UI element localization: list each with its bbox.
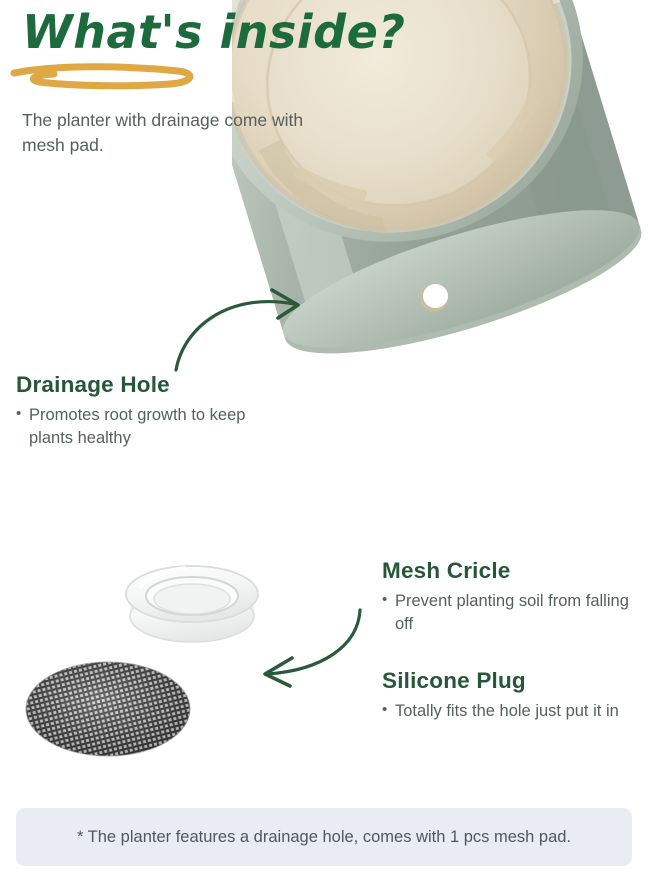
feature-bullet: Totally fits the hole just put it in [382, 700, 632, 723]
feature-heading: Mesh Cricle [382, 558, 632, 584]
feature-heading: Silicone Plug [382, 668, 632, 694]
feature-drainage-hole: Drainage Hole Promotes root growth to ke… [16, 372, 246, 449]
footer-note-text: * The planter features a drainage hole, … [53, 826, 595, 848]
feature-bullet: Promotes root growth to keep plants heal… [16, 404, 246, 449]
silicone-plug-image [112, 548, 282, 660]
swoosh-underline-icon [10, 62, 210, 92]
feature-bullet-list: Prevent planting soil from falling off [382, 590, 632, 635]
feature-silicone-plug: Silicone Plug Totally fits the hole just… [382, 668, 632, 723]
feature-bullet-list: Promotes root growth to keep plants heal… [16, 404, 246, 449]
subtitle-text: The planter with drainage come with mesh… [22, 108, 312, 158]
feature-mesh-circle: Mesh Cricle Prevent planting soil from f… [382, 558, 632, 635]
curved-arrow-right-icon [168, 282, 338, 378]
feature-bullet: Prevent planting soil from falling off [382, 590, 632, 635]
feature-bullet-list: Totally fits the hole just put it in [382, 700, 632, 723]
mesh-circle-image [22, 656, 194, 762]
infographic-page: What's inside? The planter with drainage… [0, 0, 648, 879]
page-title: What's inside? [22, 8, 382, 56]
feature-heading: Drainage Hole [16, 372, 246, 398]
title-block: What's inside? [22, 8, 382, 56]
planter-product-image [232, 0, 648, 528]
drainage-hole-graphic [420, 284, 448, 312]
footer-note-panel: * The planter features a drainage hole, … [16, 808, 632, 866]
